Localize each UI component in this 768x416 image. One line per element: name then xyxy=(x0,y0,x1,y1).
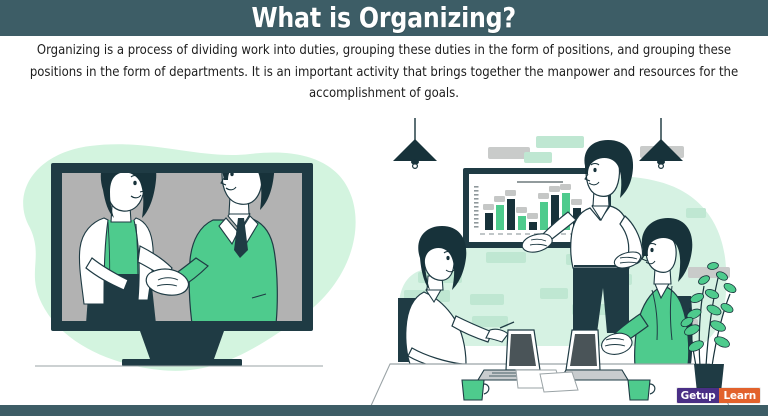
pendant-lamp-left xyxy=(393,118,437,168)
bar-4 xyxy=(518,216,526,230)
bar-2 xyxy=(496,205,504,230)
man-seated-eye xyxy=(650,248,653,252)
monitor-stand xyxy=(140,331,224,359)
paper-2 xyxy=(540,372,578,392)
logo-learn-text: Learn xyxy=(719,388,760,403)
footer-bar xyxy=(0,405,768,416)
illustration-area xyxy=(0,108,768,408)
mug-left-body xyxy=(462,380,484,400)
logo-getup-text: Getup xyxy=(677,388,720,403)
bar-3 xyxy=(507,199,515,230)
page-root: What is Organizing? Organizing is a proc… xyxy=(0,0,768,416)
woman-seated-eye xyxy=(446,256,449,260)
monitor-base xyxy=(122,359,242,366)
mug-right-body xyxy=(628,380,650,400)
header-bar: What is Organizing? xyxy=(0,0,768,36)
intro-paragraph: Organizing is a process of dividing work… xyxy=(25,40,743,105)
bar-1 xyxy=(485,213,493,230)
bar-6 xyxy=(540,202,548,230)
pendant-lamp-right xyxy=(639,118,683,168)
presenter-eye xyxy=(593,168,596,172)
illustration-video-call xyxy=(23,140,355,371)
illustration-meeting-room xyxy=(370,118,740,408)
bar-5 xyxy=(529,222,537,230)
brand-logo[interactable]: Getup Learn xyxy=(677,388,760,403)
page-title: What is Organizing? xyxy=(252,3,517,33)
woman-eye xyxy=(133,181,136,185)
